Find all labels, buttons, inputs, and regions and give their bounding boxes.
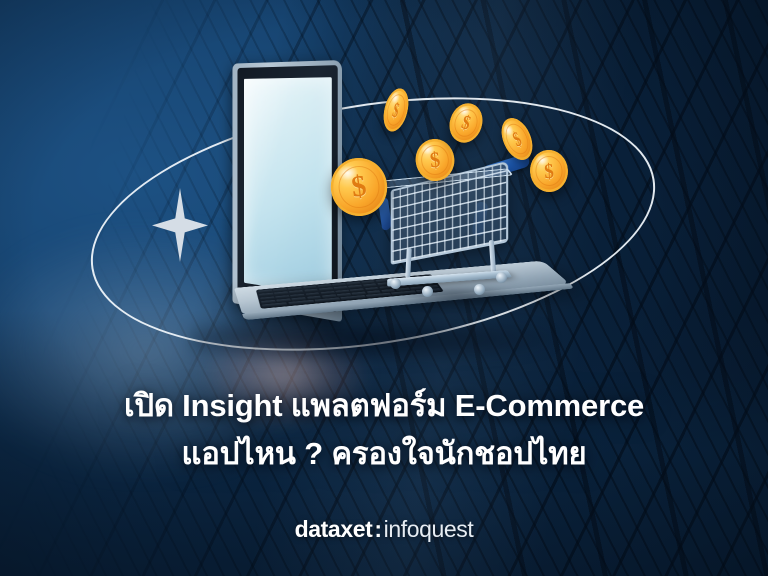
cart-wheel	[474, 284, 485, 295]
brand-logo: dataxet:infoquest	[0, 518, 768, 541]
cart-wheel	[390, 278, 401, 289]
cart-shadow	[384, 286, 524, 304]
shopping-cart-illustration	[378, 158, 542, 306]
logo-separator: :	[374, 516, 381, 542]
coin-glint	[390, 91, 401, 104]
laptop-bezel	[237, 65, 337, 312]
logo-brand-text: dataxet	[295, 516, 373, 542]
coin-glint	[535, 154, 549, 166]
cart-wheel	[422, 286, 433, 297]
coin-glint	[420, 143, 435, 155]
coin-glint	[457, 104, 471, 117]
cart-leg	[489, 240, 496, 274]
laptop-screen	[244, 77, 332, 296]
coin-glint	[337, 164, 359, 182]
headline-line-2: แอปไหน ? ครองใจนักชอปไทย	[0, 430, 768, 478]
poster-canvas: $$$$$$ เปิด Insight แพลตฟอร์ม E-Commerce…	[0, 0, 768, 576]
logo-product-text: infoquest	[384, 516, 474, 542]
laptop-shadow	[190, 318, 550, 360]
cart-leg	[405, 248, 412, 278]
coin-glint	[501, 123, 515, 137]
screen-reflection	[244, 77, 332, 296]
headline-line-1: เปิด Insight แพลตฟอร์ม E-Commerce	[0, 382, 768, 430]
headline: เปิด Insight แพลตฟอร์ม E-Commerce แอปไหน…	[0, 382, 768, 478]
cart-wheel	[496, 272, 507, 283]
